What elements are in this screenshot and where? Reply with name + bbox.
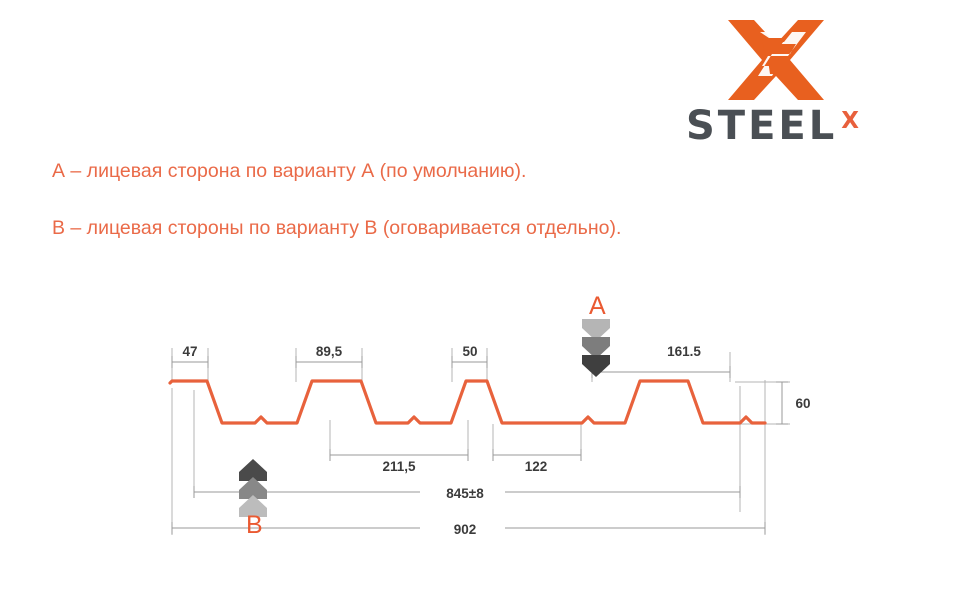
marker-b-chevrons-icon [239,459,267,517]
dimension-label-211-5: 211,5 [374,459,424,474]
corrugated-profile-outline [170,381,765,423]
dimension-label-845: 845±8 [425,486,505,501]
marker-label-b: В [246,511,263,540]
dimension-label-122: 122 [518,459,554,474]
dimension-label-60: 60 [789,396,817,411]
drawing-page: STEEL X А – лицевая сторона по варианту … [0,0,970,597]
dimension-label-89-5: 89,5 [304,344,354,359]
marker-label-a: А [589,292,606,321]
dimension-label-50: 50 [454,344,486,359]
marker-a-chevrons-icon [582,319,610,377]
dimension-label-47: 47 [175,344,205,359]
dimension-label-161-5: 161.5 [652,344,716,359]
dimension-label-902: 902 [425,522,505,537]
profile-technical-drawing [0,0,970,597]
